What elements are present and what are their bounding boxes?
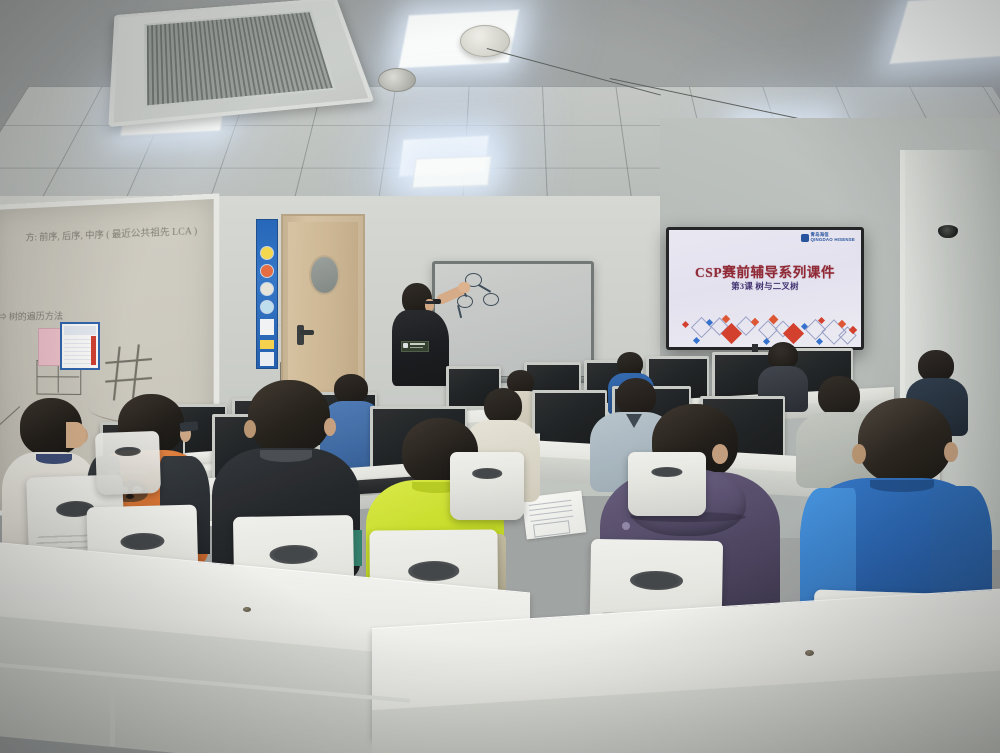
chair[interactable] bbox=[628, 452, 706, 516]
chair[interactable] bbox=[95, 431, 161, 495]
classroom-door[interactable] bbox=[281, 214, 365, 396]
door-handle[interactable] bbox=[300, 330, 314, 335]
security-camera-icon bbox=[938, 222, 958, 238]
door-window bbox=[309, 255, 340, 295]
collar bbox=[36, 454, 72, 464]
door-lock-plate bbox=[297, 325, 304, 345]
chair[interactable] bbox=[450, 452, 524, 520]
cable-grommet bbox=[805, 650, 814, 656]
logo-text-en: QINGDAO HISENSE bbox=[811, 237, 855, 242]
slide-title: CSP赛前辅导系列课件 bbox=[669, 261, 861, 281]
door-poster-schedule bbox=[60, 322, 100, 370]
tree-node-right bbox=[483, 293, 499, 306]
desk-leg bbox=[110, 676, 115, 746]
tree-edge-right bbox=[478, 284, 491, 292]
presentation-tv[interactable]: 青岛海信 QINGDAO HISENSE CSP赛前辅导系列课件 第3课 树与二… bbox=[666, 227, 864, 350]
collar bbox=[260, 450, 312, 462]
teacher-hand bbox=[458, 282, 470, 293]
wall-banner-poster bbox=[256, 219, 278, 369]
logo-mark-icon bbox=[801, 234, 809, 242]
sprinkler-head-icon bbox=[378, 68, 416, 92]
brand-logo: 青岛海信 QINGDAO HISENSE bbox=[801, 233, 855, 242]
glasses bbox=[180, 421, 199, 432]
slide-screen: 青岛海信 QINGDAO HISENSE CSP赛前辅导系列课件 第3课 树与二… bbox=[669, 230, 861, 347]
cable-grommet bbox=[243, 607, 251, 612]
drawcord-tip bbox=[622, 522, 630, 530]
collar bbox=[870, 480, 934, 492]
slide-subtitle: 第3课 树与二叉树 bbox=[669, 280, 861, 292]
teacher-glasses bbox=[425, 301, 435, 304]
classroom-photo: 方: 前序, 后序, 中序 ( 最近公共祖先 LCA ) ⇒ 树的遍历方法 bbox=[0, 0, 1000, 753]
ceiling-light-panel bbox=[412, 156, 490, 187]
ceiling-light-panel bbox=[889, 0, 1000, 62]
door-poster-pink bbox=[38, 328, 62, 366]
